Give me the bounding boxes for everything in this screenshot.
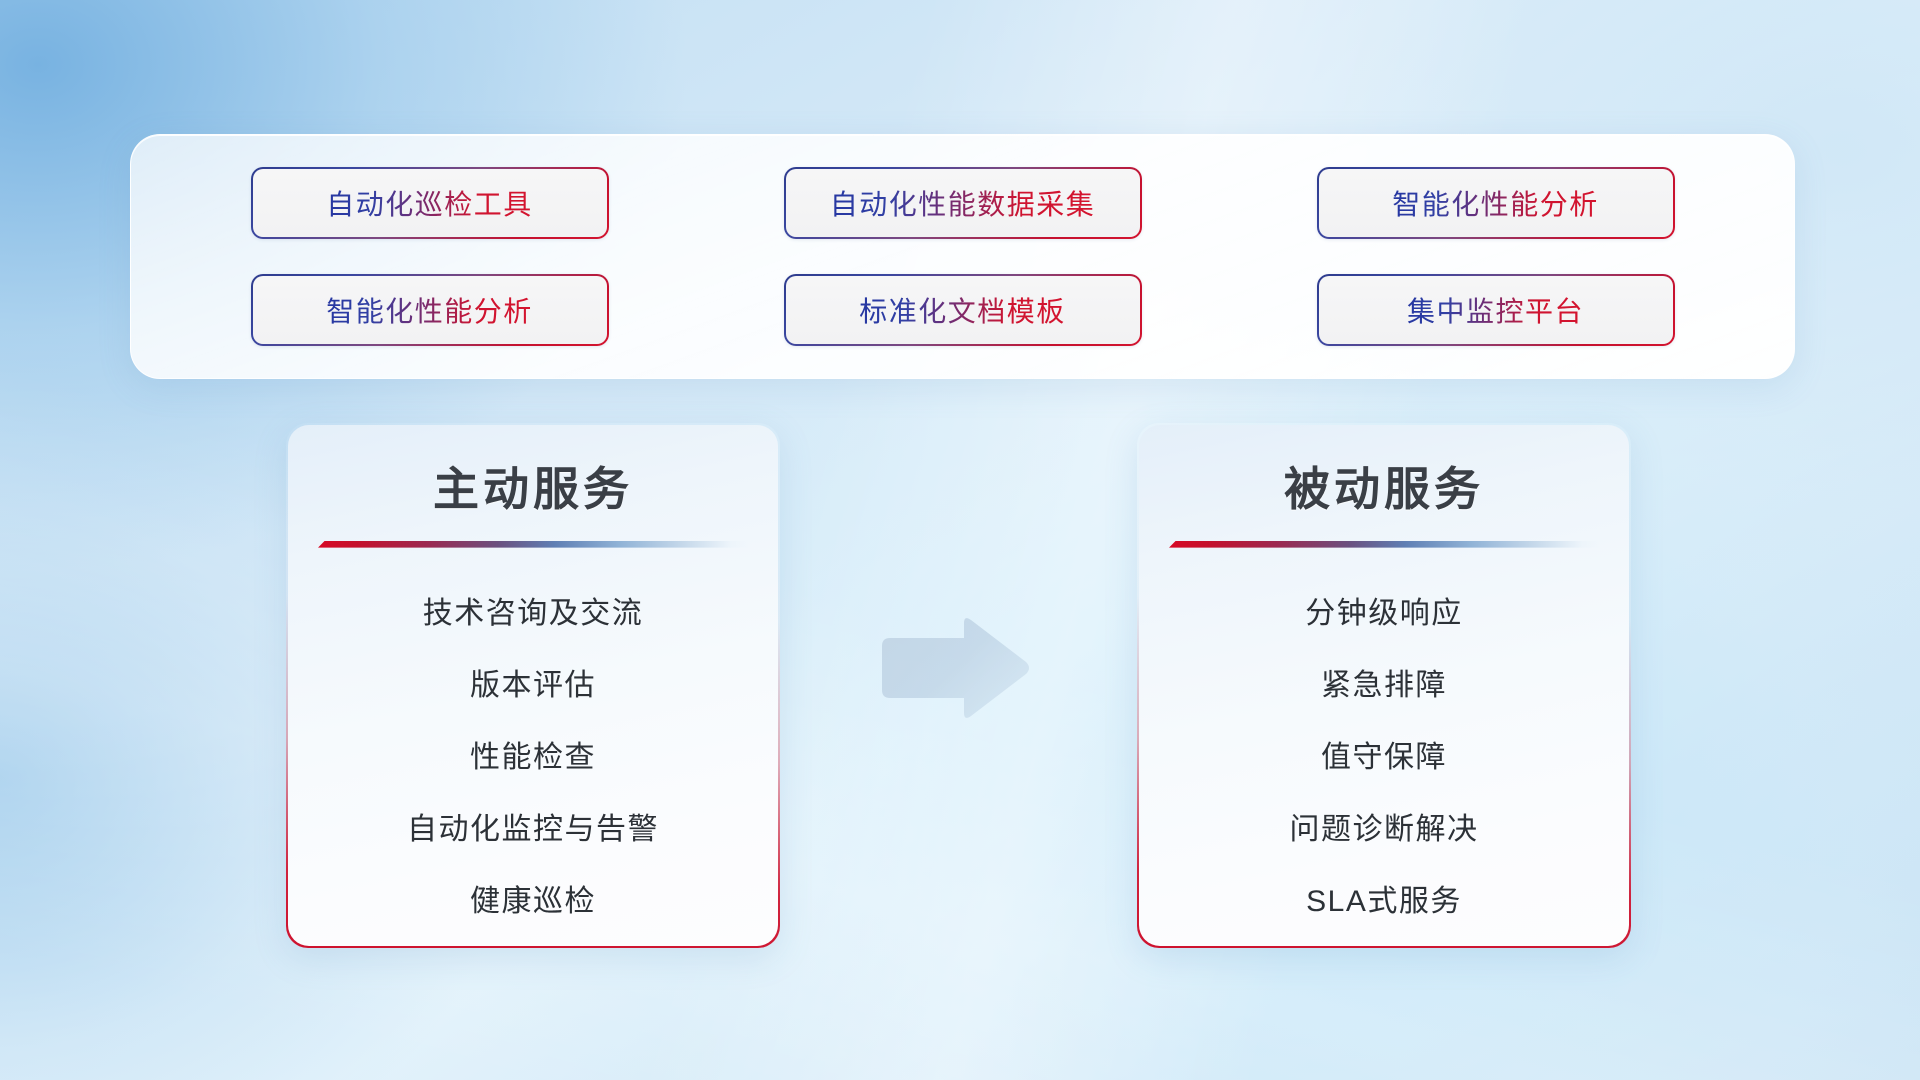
capability-pill[interactable]: 标准化文档模板 (784, 274, 1142, 346)
service-item: 值守保障 (1321, 722, 1447, 794)
capability-pill-label: 智能化性能分析 (1392, 183, 1599, 223)
service-item: 版本评估 (470, 650, 596, 722)
service-item: 健康巡检 (470, 866, 596, 938)
service-item-list: 技术咨询及交流 版本评估 性能检查 自动化监控与告警 健康巡检 (288, 578, 779, 938)
capability-pill-surface: 标准化文档模板 (786, 276, 1140, 344)
service-item: 分钟级响应 (1305, 578, 1463, 650)
service-item: 紧急排障 (1321, 650, 1447, 722)
capability-pill-surface: 智能化性能分析 (1319, 169, 1673, 237)
right-arrow-icon (872, 614, 1032, 722)
service-item: 自动化监控与告警 (407, 794, 659, 866)
capability-pill-label: 标准化文档模板 (859, 290, 1066, 330)
service-item: 技术咨询及交流 (423, 578, 644, 650)
service-card-proactive: 主动服务 技术咨询及交流 版本评估 性能检查 自动化监控与告警 健康巡检 (286, 423, 780, 948)
service-item-list: 分钟级响应 紧急排障 值守保障 问题诊断解决 SLA式服务 (1139, 578, 1630, 938)
service-item: SLA式服务 (1306, 866, 1462, 938)
capability-pill[interactable]: 集中监控平台 (1317, 274, 1675, 346)
capability-pill-surface: 集中监控平台 (1319, 276, 1673, 344)
service-card-surface: 主动服务 技术咨询及交流 版本评估 性能检查 自动化监控与告警 健康巡检 (288, 425, 779, 947)
service-item: 性能检查 (470, 722, 596, 794)
capability-pill[interactable]: 自动化性能数据采集 (784, 167, 1142, 239)
service-card-divider (318, 541, 748, 548)
service-card-reactive: 被动服务 分钟级响应 紧急排障 值守保障 问题诊断解决 SLA式服务 (1137, 423, 1631, 948)
service-card-title: 主动服务 (433, 453, 633, 519)
service-card-divider (1169, 541, 1599, 548)
capability-pill-surface: 自动化性能数据采集 (786, 169, 1140, 237)
capability-pill[interactable]: 智能化性能分析 (251, 274, 609, 346)
capability-pill-surface: 智能化性能分析 (253, 276, 607, 344)
capability-pill-label: 自动化性能数据采集 (830, 183, 1096, 223)
service-card-surface: 被动服务 分钟级响应 紧急排障 值守保障 问题诊断解决 SLA式服务 (1139, 425, 1630, 947)
capability-panel: 自动化巡检工具 自动化性能数据采集 智能化性能分析 智能化性能分析 标准化文档模… (130, 134, 1795, 379)
capability-pill-label: 自动化巡检工具 (326, 183, 533, 223)
service-item: 问题诊断解决 (1290, 794, 1479, 866)
service-card-title: 被动服务 (1284, 453, 1484, 519)
capability-pill-surface: 自动化巡检工具 (253, 169, 607, 237)
capability-pill[interactable]: 智能化性能分析 (1317, 167, 1675, 239)
capability-pill[interactable]: 自动化巡检工具 (251, 167, 609, 239)
capability-pill-label: 智能化性能分析 (326, 290, 533, 330)
capability-pill-label: 集中监控平台 (1407, 290, 1584, 330)
